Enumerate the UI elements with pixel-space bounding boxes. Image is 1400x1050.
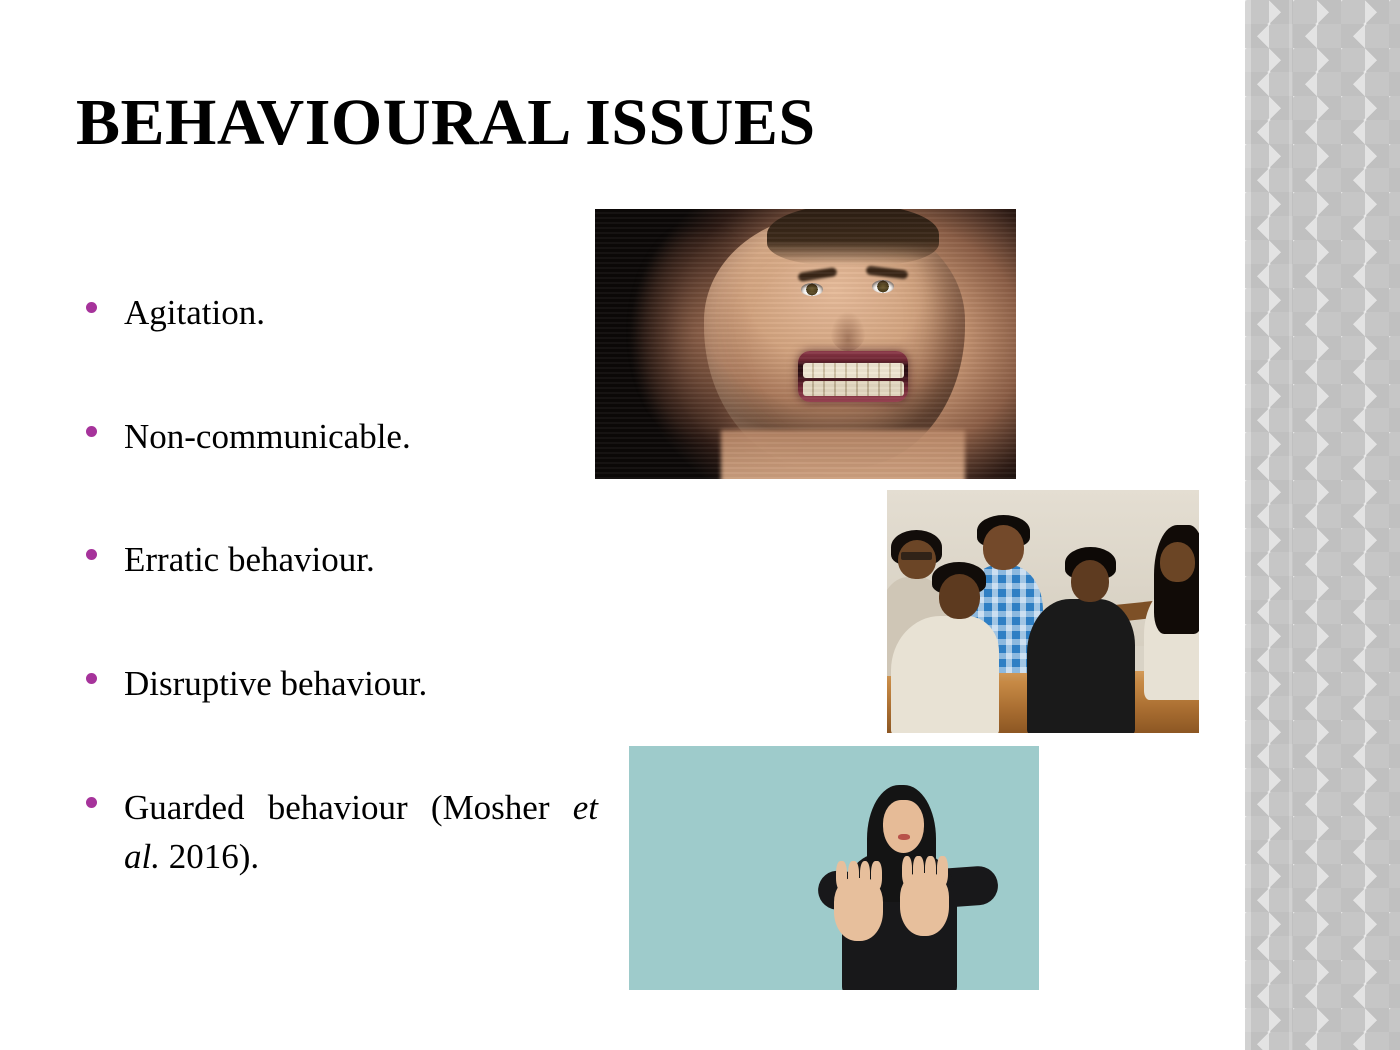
list-item-citation-label: Guarded behaviour (Mosher et al. 2016). [124, 783, 598, 882]
finger [860, 861, 871, 890]
finger [902, 856, 913, 885]
list-item: Erratic behaviour. [78, 535, 598, 585]
finger [848, 861, 859, 890]
finger [925, 856, 936, 885]
list-item-label: Non-communicable. [124, 412, 598, 462]
list-item-label: Erratic behaviour. [124, 535, 598, 585]
motion-blur-overlay [595, 209, 1016, 479]
finger [913, 856, 924, 885]
bullet-dot-icon [86, 797, 97, 808]
list-item-citation: Guarded behaviour (Mosher et al. 2016). [78, 783, 598, 882]
open-palm-left [834, 878, 883, 941]
list-item: Agitation. [78, 288, 598, 338]
citation-lead: Guarded behaviour (Mosher [124, 788, 573, 827]
stop-gesture-woman-photo [629, 746, 1039, 990]
open-palm-right [900, 873, 949, 936]
list-item-label: Disruptive behaviour. [124, 659, 598, 709]
panel-edge-stripe [1245, 0, 1251, 1050]
page-title: BEHAVIOURAL ISSUES [76, 88, 816, 157]
bullet-dot-icon [86, 302, 97, 313]
photo-border [885, 488, 1201, 735]
slide-canvas: BEHAVIOURAL ISSUES Agitation. Non-commun… [0, 0, 1400, 1050]
bullet-dot-icon [86, 673, 97, 684]
finger [871, 861, 882, 890]
classroom-students-photo [885, 488, 1201, 735]
argyle-pattern-panel [1245, 0, 1400, 1050]
bullet-dot-icon [86, 549, 97, 560]
list-item: Disruptive behaviour. [78, 659, 598, 709]
lips-shape [898, 834, 910, 840]
bullet-dot-icon [86, 426, 97, 437]
finger [836, 861, 847, 890]
list-item: Non-communicable. [78, 412, 598, 462]
list-item-label: Agitation. [124, 288, 598, 338]
citation-tail: 2016). [160, 837, 259, 876]
bullet-list: Agitation. Non-communicable. Erratic beh… [78, 288, 598, 882]
angry-man-photo [595, 209, 1016, 479]
finger [937, 856, 948, 885]
panel-inner-stripe [1289, 0, 1292, 1050]
